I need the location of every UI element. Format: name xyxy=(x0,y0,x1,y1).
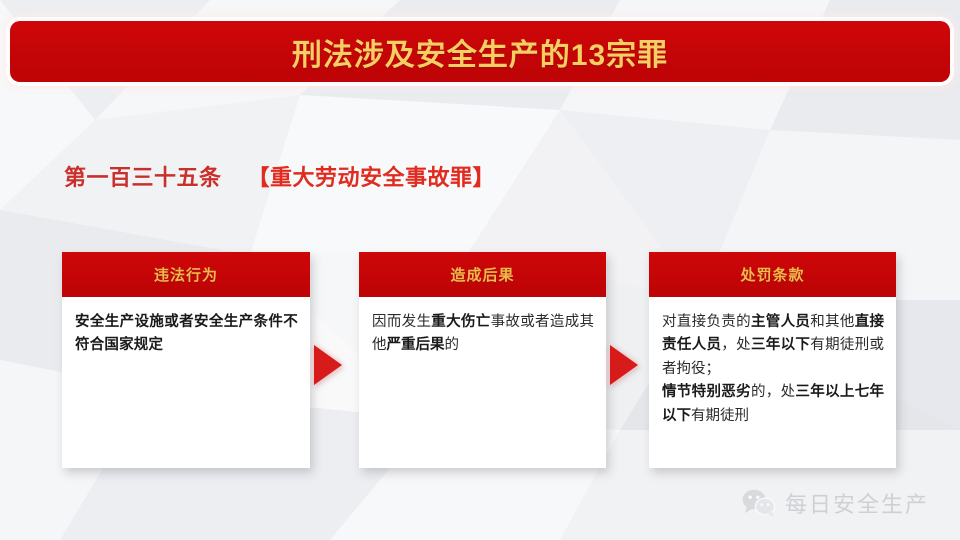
crime-name: 【重大劳动安全事故罪】 xyxy=(248,165,496,190)
card-consequence: 造成后果 因而发生重大伤亡事故或者造成其他严重后果的 xyxy=(359,252,606,468)
arrow-right-icon-1 xyxy=(314,345,342,385)
card-penalty-header-label: 处罚条款 xyxy=(740,264,804,285)
watermark: 每日安全生产 xyxy=(742,487,929,519)
card-penalty-header: 处罚条款 xyxy=(649,252,896,297)
card-violation-header: 违法行为 xyxy=(62,252,310,297)
article-subtitle: 第一百三十五条【重大劳动安全事故罪】 xyxy=(64,160,495,192)
slide-canvas: 刑法涉及安全生产的13宗罪 第一百三十五条【重大劳动安全事故罪】 违法行为 安全… xyxy=(0,0,960,540)
card-violation-body: 安全生产设施或者安全生产条件不符合国家规定 xyxy=(62,297,310,368)
page-title: 刑法涉及安全生产的13宗罪 xyxy=(292,30,668,74)
card-consequence-header-label: 造成后果 xyxy=(450,264,514,285)
article-number: 第一百三十五条 xyxy=(64,165,222,190)
card-penalty: 处罚条款 对直接负责的主管人员和其他直接责任人员，处三年以下有期徒刑或者拘役；情… xyxy=(649,252,896,468)
card-violation-header-label: 违法行为 xyxy=(154,264,218,285)
arrow-right-icon-2 xyxy=(610,345,638,385)
card-penalty-body: 对直接负责的主管人员和其他直接责任人员，处三年以下有期徒刑或者拘役；情节特别恶劣… xyxy=(649,297,896,438)
slide-title-bar: 刑法涉及安全生产的13宗罪 xyxy=(10,21,950,82)
card-consequence-header: 造成后果 xyxy=(359,252,606,297)
card-violation: 违法行为 安全生产设施或者安全生产条件不符合国家规定 xyxy=(62,252,310,468)
card-consequence-body: 因而发生重大伤亡事故或者造成其他严重后果的 xyxy=(359,297,606,368)
watermark-text: 每日安全生产 xyxy=(785,487,929,519)
wechat-icon xyxy=(742,488,776,518)
